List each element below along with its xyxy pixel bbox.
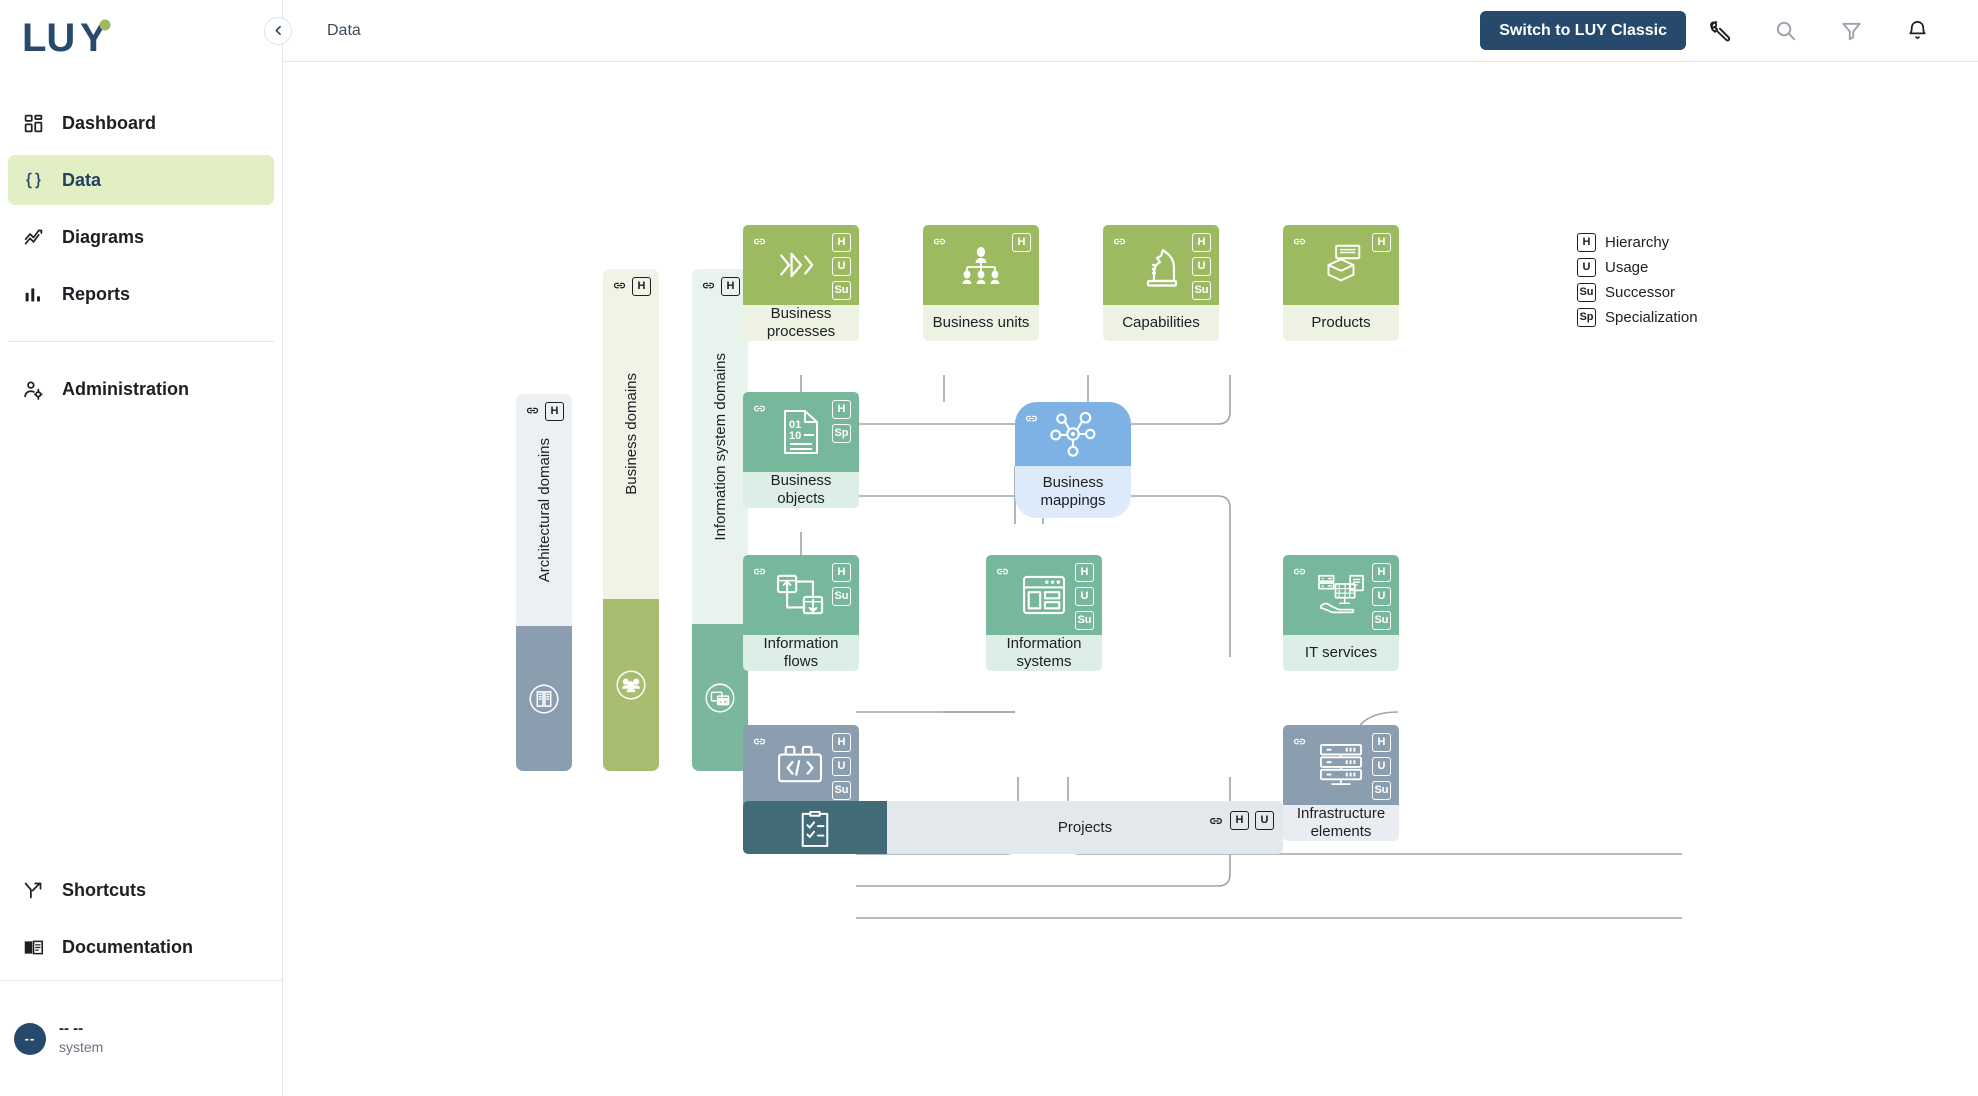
node-label: Business objects (743, 472, 859, 508)
badge-hierarchy: H (545, 402, 564, 421)
network-nodes-icon (1047, 411, 1099, 457)
badge-usage: U (1255, 811, 1274, 830)
column-title: Information system domains (712, 353, 729, 541)
column-information-system-domains[interactable]: H Information system domains (692, 269, 748, 771)
wrench-icon[interactable] (1686, 9, 1752, 53)
sidebar-item-dashboard[interactable]: Dashboard (8, 98, 274, 148)
column-head: H Information system domains (692, 269, 748, 624)
book-icon (21, 935, 45, 959)
node-head: H U Su (1283, 725, 1399, 805)
badge-hierarchy: H (1192, 233, 1211, 252)
app-root: LU Y Dashboard (0, 0, 1978, 1096)
badge-usage: U (832, 257, 851, 276)
flow-arrows-icon (776, 572, 826, 618)
type-badges: H (545, 402, 564, 421)
sidebar-item-reports[interactable]: Reports (8, 269, 274, 319)
badge-successor: Su (832, 281, 851, 300)
search-icon[interactable] (1752, 9, 1818, 53)
badge-usage: U (1372, 757, 1391, 776)
node-label: Products (1283, 305, 1399, 341)
node-head: H U Su (743, 225, 859, 305)
legend-label: Hierarchy (1605, 234, 1669, 251)
column-footer (516, 626, 572, 771)
type-badges: H U Su (1075, 563, 1094, 630)
node-projects-bar[interactable]: Projects H U (743, 801, 1283, 854)
sidebar-item-documentation[interactable]: Documentation (8, 922, 274, 972)
type-badges: H U Su (832, 733, 851, 800)
type-badges: H (1012, 233, 1031, 252)
column-title: Business domains (623, 373, 640, 495)
link-icon (701, 278, 716, 298)
node-head: H (923, 225, 1039, 305)
link-icon (752, 401, 767, 421)
badge-hierarchy: H (1372, 563, 1391, 582)
link-icon (752, 234, 767, 254)
legend-label: Specialization (1605, 309, 1698, 326)
badge-successor: Su (1075, 611, 1094, 630)
secondary-nav: Shortcuts Documentation (0, 865, 282, 979)
sidebar-item-diagrams[interactable]: Diagrams (8, 212, 274, 262)
sidebar-item-data[interactable]: Data (8, 155, 274, 205)
badge-hierarchy: H (832, 563, 851, 582)
badge-successor: Su (832, 781, 851, 800)
topbar: Data Switch to LUY Classic (283, 0, 1978, 62)
node-business-mappings[interactable]: Business mappings (1015, 402, 1131, 518)
badge-successor: Su (1577, 283, 1596, 302)
sidebar-item-shortcuts[interactable]: Shortcuts (8, 865, 274, 915)
luy-logo-icon: LU Y (22, 18, 142, 62)
link-icon (1292, 734, 1307, 754)
column-head: H Architectural domains (516, 394, 572, 626)
svg-text:10: 10 (789, 430, 801, 442)
node-head: H (1283, 225, 1399, 305)
link-icon (752, 734, 767, 754)
badge-specialization: Sp (1577, 308, 1596, 327)
node-label: Business processes (743, 305, 859, 341)
column-head: H Business domains (603, 269, 659, 599)
column-title: Architectural domains (536, 438, 553, 582)
link-icon (1292, 564, 1307, 584)
badge-successor: Su (1192, 281, 1211, 300)
node-business-processes[interactable]: H U Su Business processes (743, 225, 859, 341)
link-icon (995, 564, 1010, 584)
org-chart-icon (957, 245, 1005, 285)
dashboard-icon (21, 111, 45, 135)
badge-successor: Su (1372, 781, 1391, 800)
badge-hierarchy: H (721, 277, 740, 296)
column-architectural-domains[interactable]: H Architectural domains (516, 394, 572, 771)
link-icon (1208, 811, 1224, 830)
badge-usage: U (832, 757, 851, 776)
node-head: H U Su (1103, 225, 1219, 305)
clipboard-check-icon (798, 808, 832, 848)
type-badges: H (632, 277, 651, 296)
svg-text:LU: LU (22, 18, 75, 60)
type-badges: H U Su (1192, 233, 1211, 300)
link-icon (752, 564, 767, 584)
link-icon (1292, 234, 1307, 254)
link-icon (1024, 411, 1039, 431)
node-label: Capabilities (1103, 305, 1219, 341)
node-label: Business units (923, 305, 1039, 341)
sidebar-item-administration[interactable]: Administration (8, 364, 274, 414)
node-capabilities[interactable]: H U Su Capabilities (1103, 225, 1219, 341)
type-badges: H U Su (832, 233, 851, 300)
badge-hierarchy: H (1075, 563, 1094, 582)
code-brick-icon (776, 745, 826, 785)
node-products[interactable]: H Products (1283, 225, 1399, 341)
chess-knight-icon (1140, 243, 1182, 287)
shortcuts-icon (21, 878, 45, 902)
primary-nav: Dashboard Data Diagrams (0, 98, 282, 414)
badge-usage: U (1192, 257, 1211, 276)
node-label: Business mappings (1015, 466, 1131, 518)
node-label: IT services (1283, 635, 1399, 671)
avatar: -- (14, 1023, 46, 1055)
sidebar-item-label: Diagrams (62, 227, 144, 248)
badge-specialization: Sp (832, 424, 851, 443)
people-circle-icon (612, 666, 650, 704)
legend-label: Usage (1605, 259, 1648, 276)
link-icon (612, 278, 627, 298)
projects-icon-panel (743, 801, 887, 854)
badge-usage: U (1372, 587, 1391, 606)
sidebar-divider (8, 341, 274, 342)
badge-successor: Su (832, 587, 851, 606)
user-name: -- -- (59, 1020, 103, 1039)
badge-hierarchy: H (1372, 733, 1391, 752)
sidebar: LU Y Dashboard (0, 0, 283, 1096)
node-label: Infrastructure elements (1283, 805, 1399, 841)
node-head: H Su (743, 555, 859, 635)
topbar-actions: Switch to LUY Classic (1480, 9, 1950, 53)
breadcrumb[interactable]: Data (327, 22, 361, 40)
type-badges: H Sp (832, 400, 851, 443)
legend-item-hierarchy: H Hierarchy (1577, 230, 1698, 255)
node-business-units[interactable]: H Business units (923, 225, 1039, 341)
main-area: Data Switch to LUY Classic (283, 0, 1978, 1096)
link-icon (525, 403, 540, 423)
legend-item-specialization: Sp Specialization (1577, 305, 1698, 330)
node-business-objects[interactable]: H Sp 01 10 Business objects (743, 392, 859, 508)
badge-usage: U (1577, 258, 1596, 277)
node-label: Information systems (986, 635, 1102, 671)
window-circle-icon (701, 679, 739, 717)
node-head: H U Su (1283, 555, 1399, 635)
sidebar-item-label: Shortcuts (62, 880, 146, 901)
badge-hierarchy: H (1230, 811, 1249, 830)
node-information-systems[interactable]: H U Su Information sys (986, 555, 1102, 671)
app-logo[interactable]: LU Y (0, 0, 282, 62)
badge-hierarchy: H (832, 233, 851, 252)
node-head: H U Su (986, 555, 1102, 635)
switch-to-classic-button[interactable]: Switch to LUY Classic (1480, 11, 1686, 50)
server-rack-icon (1316, 743, 1366, 787)
chevron-left-icon (272, 24, 285, 37)
projects-body: Projects H U (887, 801, 1283, 854)
legend: H Hierarchy U Usage Su Successor Sp Spec… (1577, 230, 1698, 330)
sidebar-collapse-button[interactable] (264, 17, 292, 45)
open-box-icon (1315, 243, 1367, 287)
projects-label: Projects (1058, 819, 1112, 836)
badge-successor: Su (1372, 611, 1391, 630)
type-badges: H (721, 277, 740, 296)
bell-icon[interactable] (1884, 9, 1950, 53)
node-head (1015, 402, 1131, 466)
app-window-icon (1022, 575, 1066, 615)
diagram-canvas[interactable]: H Architectural domains (283, 62, 1978, 1096)
sidebar-item-label: Documentation (62, 937, 193, 958)
sidebar-item-label: Administration (62, 379, 189, 400)
badge-hierarchy: H (632, 277, 651, 296)
legend-item-successor: Su Successor (1577, 280, 1698, 305)
sidebar-item-label: Data (62, 170, 101, 191)
it-service-icon (1315, 573, 1367, 617)
chevrons-icon (777, 248, 825, 282)
link-icon (1112, 234, 1127, 254)
sidebar-item-label: Dashboard (62, 113, 156, 134)
user-gear-icon (21, 377, 45, 401)
user-footer[interactable]: -- -- -- system (0, 980, 282, 1096)
badge-usage: U (1075, 587, 1094, 606)
link-icon (932, 234, 947, 254)
type-badges: H Su (832, 563, 851, 606)
node-head: H U Su (743, 725, 859, 805)
legend-label: Successor (1605, 284, 1675, 301)
column-business-domains[interactable]: H Business domains (603, 269, 659, 771)
type-badges: H (1372, 233, 1391, 252)
type-badges: H U Su (1372, 563, 1391, 630)
column-footer (603, 599, 659, 771)
badge-hierarchy: H (1577, 233, 1596, 252)
binary-doc-icon: 01 10 (782, 409, 820, 455)
sidebar-item-label: Reports (62, 284, 130, 305)
badge-hierarchy: H (1372, 233, 1391, 252)
legend-item-usage: U Usage (1577, 255, 1698, 280)
node-information-flows[interactable]: H Su Information flows (743, 555, 859, 671)
user-role: system (59, 1039, 103, 1057)
node-label: Information flows (743, 635, 859, 671)
filter-icon[interactable] (1818, 9, 1884, 53)
bar-chart-icon (21, 282, 45, 306)
servers-circle-icon (525, 680, 563, 718)
badge-hierarchy: H (832, 733, 851, 752)
column-footer (692, 624, 748, 771)
badge-hierarchy: H (1012, 233, 1031, 252)
type-badges: H U Su (1372, 733, 1391, 800)
node-it-services[interactable]: H U Su IT services (1283, 555, 1399, 671)
projects-badges: H U (1208, 811, 1274, 830)
badge-hierarchy: H (832, 400, 851, 419)
chart-line-icon (21, 225, 45, 249)
node-head: H Sp 01 10 (743, 392, 859, 472)
braces-icon (21, 168, 45, 192)
node-infrastructure-elements[interactable]: H U Su Infrastructure elements (1283, 725, 1399, 841)
user-info: -- -- system (59, 1020, 103, 1056)
